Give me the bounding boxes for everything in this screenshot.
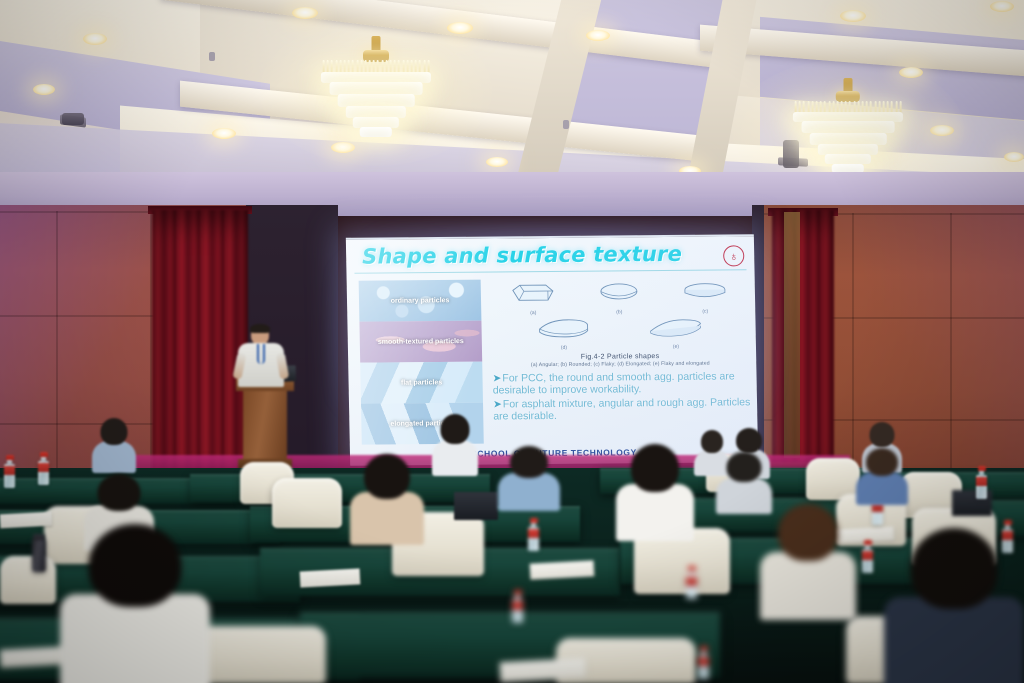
- chair[interactable]: [0, 556, 56, 604]
- water-bottle[interactable]: [686, 566, 697, 599]
- shape-angular: (a): [510, 282, 557, 316]
- water-bottle[interactable]: [528, 518, 539, 551]
- presenter: [238, 325, 284, 387]
- bottle-label: [512, 601, 523, 610]
- bottle-body: [686, 575, 697, 599]
- water-bottle[interactable]: [4, 455, 15, 488]
- attendee-body: [616, 484, 694, 541]
- bottle-body: [38, 461, 49, 485]
- slide-title: Shape and surface texture: [362, 242, 682, 269]
- water-bottle[interactable]: [862, 540, 873, 573]
- attendee-body: [432, 440, 478, 476]
- slide-bullet-list: ➤For PCC, the round and smooth agg. part…: [490, 370, 751, 423]
- attendee-mid-1: [92, 418, 136, 470]
- water-bottle[interactable]: [512, 590, 523, 623]
- presenter-hair: [250, 324, 270, 333]
- shape-caption: (b): [598, 309, 640, 315]
- attendee-head: [727, 452, 762, 482]
- shape-row-top: (a) (b) (c): [489, 280, 750, 316]
- shape-rounded: (b): [598, 281, 641, 315]
- attendee-head: [441, 414, 470, 444]
- downlight-icon: [212, 128, 236, 139]
- shape-row-bottom: (d) (e): [489, 315, 750, 351]
- university-logo-icon: ♁: [723, 245, 744, 266]
- stage-curtain-right: [772, 210, 834, 462]
- attendee-head: [701, 430, 723, 453]
- attendee-body: [856, 472, 908, 505]
- bottle-body: [512, 599, 523, 623]
- bottle-label: [38, 463, 49, 472]
- attendee-mid-2: [432, 414, 478, 472]
- shape-caption: (c): [682, 308, 728, 314]
- chair[interactable]: [196, 626, 326, 683]
- rounded-particle-icon: [598, 281, 640, 303]
- downlight-icon: [990, 1, 1014, 12]
- particle-photo-label: smooth-textured particles: [360, 337, 482, 345]
- bottle-label: [698, 657, 709, 666]
- attendee-body: [60, 594, 210, 683]
- particle-shape-figure: (a) (b) (c): [489, 280, 752, 424]
- conference-hall-scene: Shape and surface texture ♁ ordinary par…: [0, 0, 1024, 683]
- slide-divider: [354, 269, 746, 273]
- bottle-body: [4, 464, 15, 488]
- slide-bullet-text: For PCC, the round and smooth agg. parti…: [493, 370, 735, 396]
- slide-bullet: ➤For PCC, the round and smooth agg. part…: [492, 370, 750, 397]
- water-bottle[interactable]: [976, 466, 987, 499]
- bottle-label: [4, 466, 15, 475]
- shape-flaky-elongated: (e): [648, 316, 703, 350]
- downlight-icon: [840, 10, 866, 22]
- bottle-label: [686, 577, 697, 586]
- stage-curtain-left: [152, 210, 248, 472]
- attendee-head: [736, 428, 762, 453]
- attendee-head: [911, 528, 998, 609]
- attendee-front-4: [760, 504, 856, 614]
- shape-caption: (d): [537, 345, 591, 351]
- bottle-label: [976, 477, 987, 486]
- bottle-body: [528, 527, 539, 551]
- attendee-laptop[interactable]: [454, 492, 498, 520]
- attendee-body: [350, 492, 424, 545]
- attendee-fg-1: [60, 524, 210, 683]
- ceiling-sensor-icon: [209, 52, 215, 61]
- wooden-podium: [236, 378, 294, 470]
- attendee-head: [631, 444, 679, 492]
- attendee-head: [89, 524, 182, 607]
- water-bottle[interactable]: [698, 646, 709, 679]
- crystal-chandelier: [318, 36, 434, 166]
- thermos-flask[interactable]: [32, 538, 46, 572]
- attendee-head: [101, 418, 128, 445]
- attendee-body: [760, 552, 856, 620]
- flaky-particle-icon: [682, 280, 728, 302]
- downlight-icon: [586, 30, 610, 41]
- attendee-body: [92, 441, 136, 473]
- bullet-arrow-icon: ➤: [492, 372, 501, 384]
- particle-photo: smooth-textured particles: [359, 321, 482, 363]
- downlight-icon: [83, 33, 107, 45]
- bottle-body: [698, 655, 709, 679]
- attendee-head: [870, 422, 895, 447]
- particle-photo: flat particles: [360, 362, 483, 404]
- shape-elongated: (d): [536, 317, 591, 351]
- shape-caption: (e): [649, 344, 703, 350]
- chandelier-crystal-tier: [360, 127, 392, 137]
- downlight-icon: [1004, 152, 1024, 162]
- flaky-elongated-particle-icon: [648, 316, 702, 338]
- attendee-mid-5: [856, 448, 908, 502]
- attendee-mid-4: [716, 452, 772, 510]
- attendee-head: [364, 454, 410, 499]
- wall-monitor-icon: [62, 113, 84, 125]
- attendee-body: [498, 473, 560, 511]
- attendee-head: [98, 474, 141, 511]
- ceiling-sensor-icon: [563, 120, 569, 129]
- paper-sheet[interactable]: [530, 560, 595, 579]
- particle-photo: ordinary particles: [359, 280, 482, 322]
- elongated-particle-icon: [536, 317, 590, 339]
- attendee-body: [884, 597, 1024, 683]
- attendee-front-3: [616, 444, 694, 536]
- attendee-front-2: [350, 454, 424, 540]
- bottle-body: [862, 549, 873, 573]
- shape-caption: (a): [510, 310, 556, 316]
- bottle-label: [862, 551, 873, 560]
- shape-flaky: (c): [682, 280, 729, 314]
- attendee-mid-3: [498, 446, 560, 508]
- bottle-body: [976, 475, 987, 499]
- downlight-icon: [486, 157, 508, 167]
- downlight-icon: [447, 22, 473, 34]
- angular-particle-icon: [510, 282, 556, 304]
- downlight-icon: [292, 7, 318, 19]
- attendee-fg-2: [884, 528, 1024, 683]
- ceiling: [0, 0, 1024, 200]
- figure-subcaption: (a) Angular; (b) Rounded; (c) Flaky; (d)…: [490, 360, 750, 368]
- paper-sheet[interactable]: [0, 512, 52, 529]
- water-bottle[interactable]: [38, 452, 49, 485]
- bullet-arrow-icon: ➤: [493, 398, 502, 410]
- presenter-lanyard: [257, 344, 265, 364]
- attendee-head: [510, 446, 548, 478]
- downlight-icon: [33, 84, 55, 95]
- attendee-head: [778, 504, 838, 561]
- slide-bullet: ➤For asphalt mixture, angular and rough …: [493, 396, 751, 423]
- bottle-label: [528, 529, 539, 538]
- paper-sheet[interactable]: [300, 568, 361, 587]
- slide-bullet-text: For asphalt mixture, angular and rough a…: [493, 396, 750, 423]
- particle-photo-label: flat particles: [361, 378, 483, 386]
- attendee-head: [866, 448, 898, 476]
- chair[interactable]: [272, 478, 342, 528]
- particle-photo-label: ordinary particles: [359, 296, 481, 304]
